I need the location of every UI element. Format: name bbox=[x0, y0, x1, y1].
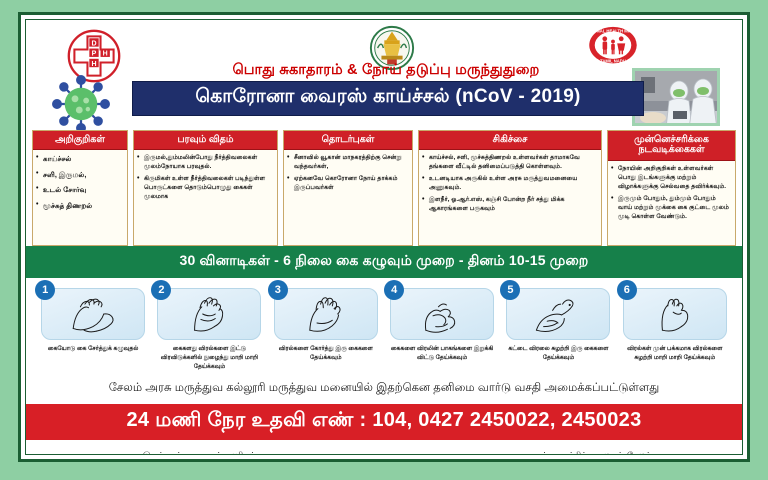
poster-frame: D P H H bbox=[18, 12, 750, 462]
info-box-body: காய்ச்சல், சளி, மூச்சுத்திணறல் உள்ளவர்கள… bbox=[419, 150, 601, 245]
info-box-body: இருமல்,தும்மலின்போது நீர்த்திவலைகள் மூலம… bbox=[134, 150, 277, 245]
step-number-badge: 5 bbox=[500, 280, 520, 300]
info-box-heading: பரவும் விதம் bbox=[134, 131, 277, 150]
info-box-heading: சிகிச்சை bbox=[419, 131, 601, 150]
poster-title-band: கொரோனா வைரஸ் காய்ச்சல் (nCoV - 2019) bbox=[132, 81, 644, 116]
info-box-contacts: தொடர்புகள் சீனாவில் வூகான் மாநகரத்திற்கு… bbox=[283, 130, 413, 246]
page-title: கொரோனா வைரஸ் காய்ச்சல் (nCoV - 2019) bbox=[135, 86, 641, 110]
hands-thumb-rotation-icon bbox=[522, 294, 594, 334]
hands-fingers-interlocked-icon bbox=[290, 294, 362, 334]
list-item: சீனாவில் வூகான் மாநகரத்திற்கு சென்று வந்… bbox=[287, 154, 408, 172]
footer-signatures: துணை இயக்குநர், சுகாதாரப் பணிகள் மாவட்ட … bbox=[26, 441, 742, 455]
info-box-spread: பரவும் விதம் இருமல்,தும்மலின்போது நீர்த்… bbox=[133, 130, 278, 246]
info-box-treatment: சிகிச்சை காய்ச்சல், சளி, மூச்சுத்திணறல் … bbox=[418, 130, 602, 246]
info-box-heading: தொடர்புகள் bbox=[284, 131, 412, 150]
department-name: பொது சுகாதாரம் & நோய் தடுப்பு மருந்துதுற… bbox=[126, 62, 646, 80]
step-panel: 2 bbox=[157, 288, 261, 340]
step-panel: 4 bbox=[390, 288, 494, 340]
hands-fingertips-in-palm-icon bbox=[639, 294, 711, 334]
step-number-badge: 4 bbox=[384, 280, 404, 300]
svg-text:P: P bbox=[92, 51, 97, 58]
list-item: காய்ச்சல், சளி, மூச்சுத்திணறல் உள்ளவர்கள… bbox=[422, 154, 597, 172]
step-caption: கைகளை விரலின் பாகங்களை இறுக்கி விட்டு தே… bbox=[386, 345, 498, 363]
handwash-banner: 30 வினாடிகள் - 6 நிலை கை கழுவும் முறை - … bbox=[26, 246, 742, 278]
poster-header: D P H H bbox=[26, 20, 742, 128]
list-item: உடனடியாக அருகில் உள்ள அரசு மருத்துவமனையை… bbox=[422, 175, 597, 193]
nhm-logo-text: NATIONAL HEALTH MISSION bbox=[584, 28, 642, 33]
handwash-step-6: 6 விரல்கள் முன் பக்கமாக விரல்களை சுழற்றி… bbox=[618, 288, 732, 372]
hands-palm-to-palm-icon bbox=[57, 294, 129, 334]
handwash-step-5: 5 கட்டை விரலை சுழற்றி இரு கைகளை தேய்க்கவ… bbox=[501, 288, 615, 372]
info-box-body: சீனாவில் வூகான் மாநகரத்திற்கு சென்று வந்… bbox=[284, 150, 412, 245]
list-item: இளநீர், ஓ.ஆர்.எஸ், கஞ்சி போன்ற நீர் சத்த… bbox=[422, 196, 597, 214]
step-panel: 5 bbox=[506, 288, 610, 340]
step-number-badge: 2 bbox=[151, 280, 171, 300]
handwash-step-1: 1 கையோடு கை சேர்த்துக் கழுவுதல் bbox=[36, 288, 150, 372]
list-item: காய்ச்சல் bbox=[36, 154, 123, 164]
info-box-body: காய்ச்சல் சளி, இருமல், உடல் சோர்வு மூச்ச… bbox=[33, 150, 127, 245]
step-caption: கையோடு கை சேர்த்துக் கழுவுதல் bbox=[37, 345, 149, 354]
step-caption: கைகளது விரல்களை இட்டு விரவிடுக்களில் நுழ… bbox=[153, 345, 265, 372]
poster-inner-frame: D P H H bbox=[25, 19, 743, 455]
step-caption: விரல்களை கோர்த்து இரு கைகளை தேய்க்கவும் bbox=[270, 345, 382, 363]
helpline-number-text: 24 மணி நேர உதவி எண் : 104, 0427 2450022,… bbox=[127, 409, 642, 431]
step-caption: விரல்கள் முன் பக்கமாக விரல்களை சுழற்றி ம… bbox=[619, 345, 731, 363]
step-number-badge: 1 bbox=[35, 280, 55, 300]
svg-text:H: H bbox=[91, 61, 96, 68]
info-box-symptoms: அறிகுறிகள் காய்ச்சல் சளி, இருமல், உடல் ச… bbox=[32, 130, 128, 246]
svg-text:H: H bbox=[103, 51, 108, 58]
list-item: இருமும் போதும், தும்மும் போதும் வாய் மற்… bbox=[611, 195, 731, 222]
handwash-step-3: 3 விரல்களை கோர்த்து இரு கைகளை தேய்க்கவும… bbox=[269, 288, 383, 372]
info-box-row: அறிகுறிகள் காய்ச்சல் சளி, இருமல், உடல் ச… bbox=[26, 128, 742, 246]
list-item: சளி, இருமல், bbox=[36, 170, 123, 180]
hands-interlaced-fingers-icon bbox=[173, 294, 245, 334]
info-box-heading: அறிகுறிகள் bbox=[33, 131, 127, 150]
list-item: மூச்சுத் திணறல் bbox=[36, 201, 123, 211]
step-number-badge: 6 bbox=[617, 280, 637, 300]
list-item: நோயின் அறிகுறிகள் உள்ளவர்கள் பொது இடங்கள… bbox=[611, 165, 731, 192]
list-item: ஏற்கனவே கொரோனா நோய் தாக்கம் இருப்பவர்கள் bbox=[287, 175, 408, 193]
signature-left: துணை இயக்குநர், சுகாதாரப் பணிகள் bbox=[114, 450, 256, 455]
coronavirus-illustration-icon bbox=[50, 74, 112, 134]
info-box-body: நோயின் அறிகுறிகள் உள்ளவர்கள் பொது இடங்கள… bbox=[608, 161, 735, 245]
handwash-step-4: 4 கைகளை விரலின் பாகங்களை இறுக்கி விட்டு … bbox=[385, 288, 499, 372]
helpline-banner: 24 மணி நேர உதவி எண் : 104, 0427 2450022,… bbox=[26, 403, 742, 441]
isolation-ward-note: சேலம் அரசு மருத்துவ கல்லூரி மருத்துவ மனை… bbox=[26, 376, 742, 403]
list-item: இருமல்,தும்மலின்போது நீர்த்திவலைகள் மூலம… bbox=[137, 154, 273, 172]
hands-backs-of-fingers-icon bbox=[406, 294, 478, 334]
step-panel: 3 bbox=[274, 288, 378, 340]
list-item: உடல் சோர்வு bbox=[36, 185, 123, 195]
step-panel: 6 bbox=[623, 288, 727, 340]
list-item: கிருமிகள் உள்ள நீர்த்திவலைகள் படிந்துள்ள… bbox=[137, 175, 273, 202]
step-panel: 1 bbox=[41, 288, 145, 340]
info-box-heading: முன்னெச்சரிக்கை நடவடிக்கைகள் bbox=[608, 131, 735, 161]
info-box-precautions: முன்னெச்சரிக்கை நடவடிக்கைகள் நோயின் அறிக… bbox=[607, 130, 736, 246]
step-number-badge: 3 bbox=[268, 280, 288, 300]
handwash-step-2: 2 கைகளது விரல்களை இட்டு விரவிட bbox=[152, 288, 266, 372]
step-caption: கட்டை விரலை சுழற்றி இரு கைகளை தேய்க்கவும… bbox=[502, 345, 614, 363]
handwash-steps-row: 1 கையோடு கை சேர்த்துக் கழுவுதல் bbox=[26, 278, 742, 376]
signature-right: மாவட்ட ஆட்சித் தலைவர், சேலம். bbox=[522, 450, 654, 455]
svg-text:D: D bbox=[91, 40, 96, 47]
